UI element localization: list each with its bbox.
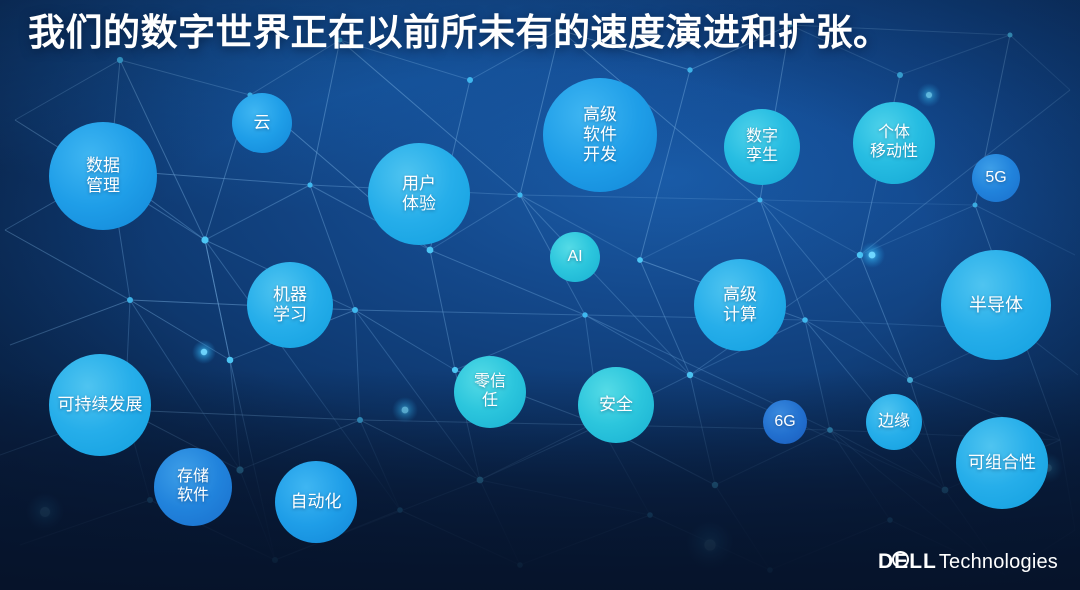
bubble-label: 高级软件开发 [579,105,621,164]
technologies-text: Technologies [939,551,1058,574]
bubble-label: 个体移动性 [866,124,922,161]
bubble-digital-twin[interactable]: 数字孪生 [724,109,800,185]
page-title: 我们的数字世界正在以前所未有的速度演进和扩张。 [28,10,891,56]
bubble-zero-trust[interactable]: 零信任 [454,356,526,428]
bubble-label: 数据管理 [82,156,124,195]
bubble-edge[interactable]: 边缘 [866,394,922,450]
bubble-cloud[interactable]: 云 [232,93,292,153]
bubble-label: 云 [250,113,275,133]
bubble-5g[interactable]: 5G [972,154,1020,202]
bubble-label: 边缘 [874,413,914,432]
bubble-label: AI [563,248,586,267]
dell-technologies-logo: DELL Technologies [878,550,1058,574]
bubble-data-management[interactable]: 数据管理 [49,122,157,230]
bubble-sustainability[interactable]: 可持续发展 [49,354,151,456]
dell-wordmark: DELL [878,550,937,574]
bubble-label: 自动化 [287,492,346,512]
bubble-individual-mobility[interactable]: 个体移动性 [853,102,935,184]
bubble-label: 零信任 [470,373,510,410]
bubble-advanced-computing[interactable]: 高级计算 [694,259,786,351]
bubble-label: 6G [770,413,799,432]
bubble-machine-learning[interactable]: 机器学习 [247,262,333,348]
bubble-ai[interactable]: AI [550,232,600,282]
bubble-composability[interactable]: 可组合性 [956,417,1048,509]
bubble-advanced-software[interactable]: 高级软件开发 [543,78,657,192]
bubble-storage-software[interactable]: 存储软件 [154,448,232,526]
bubble-label: 可持续发展 [54,395,147,415]
bubble-user-experience[interactable]: 用户体验 [368,143,470,245]
bubble-label: 数字孪生 [742,128,782,165]
bubble-label: 机器学习 [269,285,311,324]
bubble-label: 半导体 [965,295,1027,316]
bubble-label: 安全 [595,395,637,415]
bubble-automation[interactable]: 自动化 [275,461,357,543]
bubble-semiconductor[interactable]: 半导体 [941,250,1051,360]
bubble-label: 用户体验 [398,174,440,213]
bubble-label: 5G [981,169,1010,188]
bubble-security[interactable]: 安全 [578,367,654,443]
bubble-label: 可组合性 [964,453,1040,473]
bubble-label: 存储软件 [173,468,213,505]
slide-root: 我们的数字世界正在以前所未有的速度演进和扩张。 数据管理云用户体验高级软件开发数… [0,0,1080,590]
bubble-label: 高级计算 [719,285,761,324]
bubble-6g[interactable]: 6G [763,400,807,444]
